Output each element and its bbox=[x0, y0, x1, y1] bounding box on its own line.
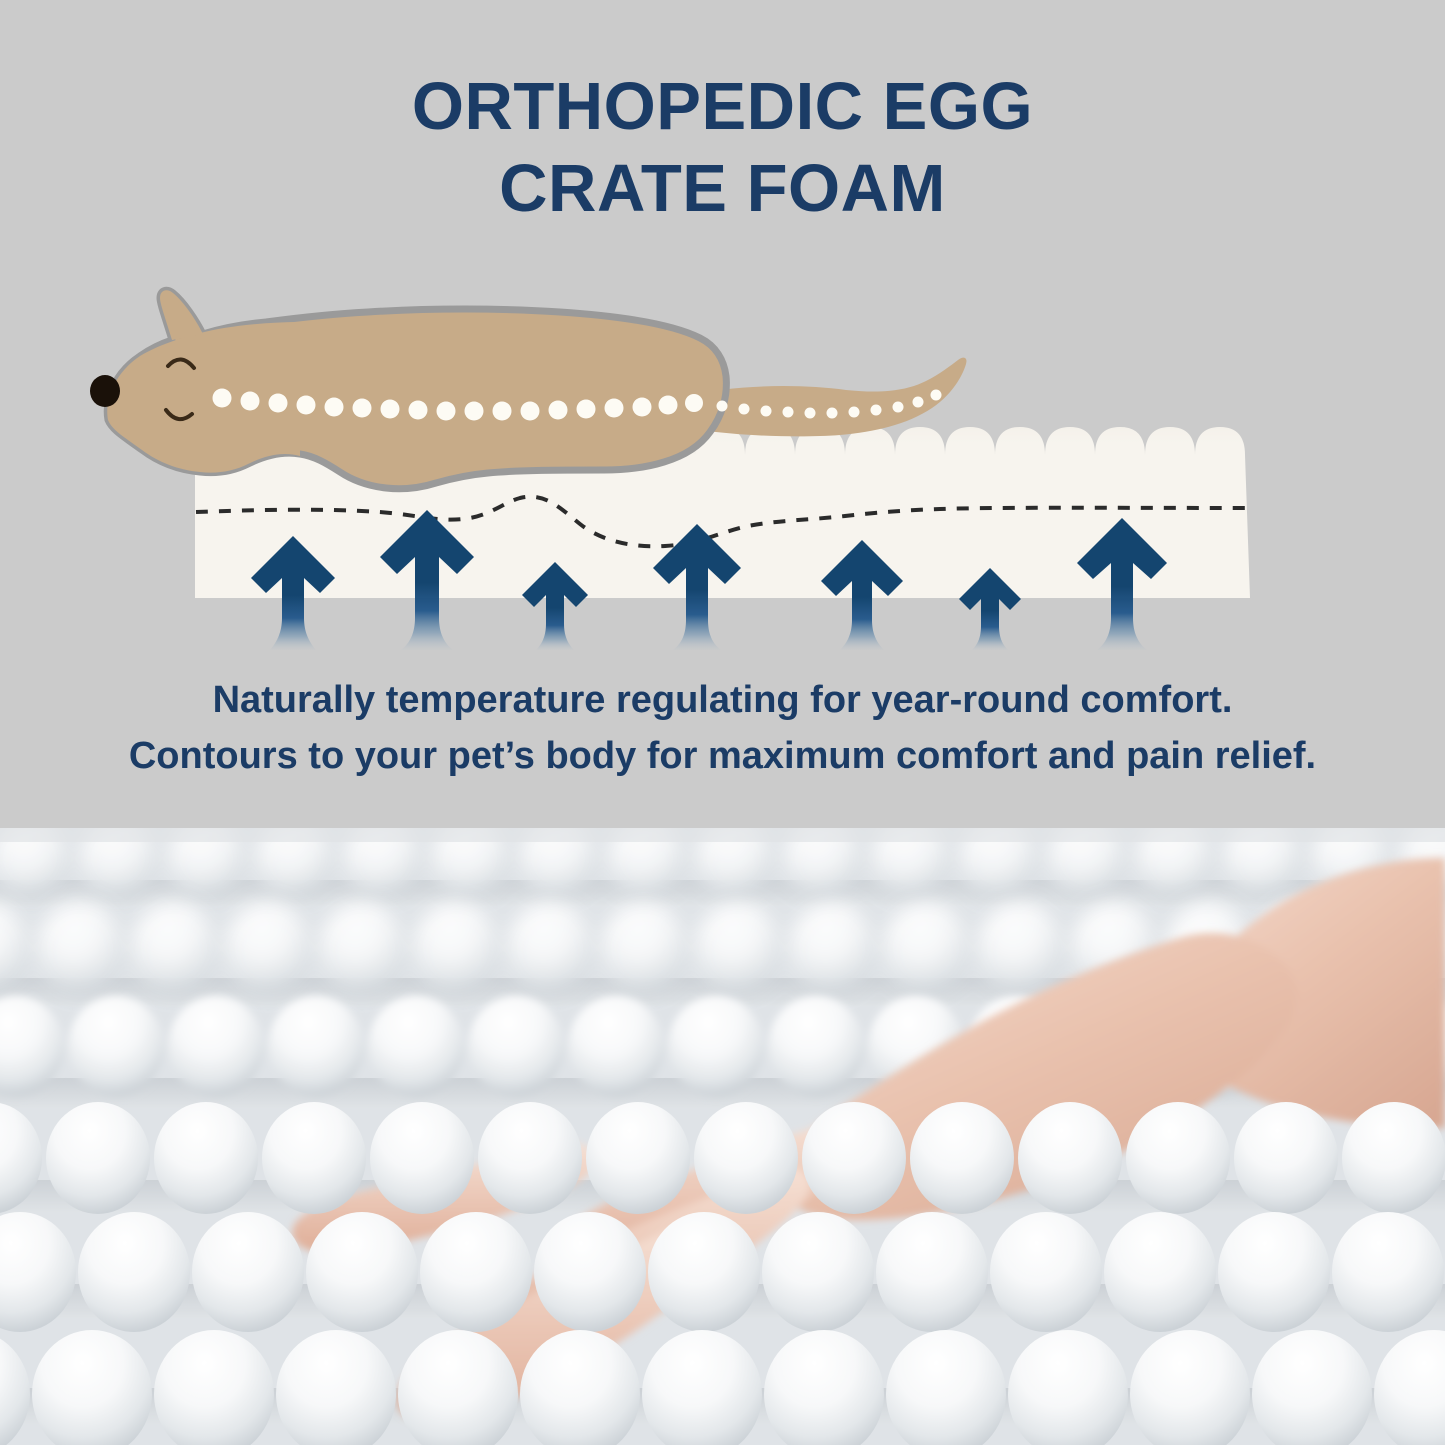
dog-nose bbox=[90, 375, 120, 407]
dog-on-foam-illustration bbox=[0, 280, 1445, 650]
feature-caption: Naturally temperature regulating for yea… bbox=[0, 672, 1445, 784]
product-infographic: ORTHOPEDIC EGG CRATE FOAM bbox=[0, 0, 1445, 1445]
headline-line-1: ORTHOPEDIC EGG bbox=[0, 66, 1445, 148]
top-info-panel: ORTHOPEDIC EGG CRATE FOAM bbox=[0, 0, 1445, 828]
headline-line-2: CRATE FOAM bbox=[0, 148, 1445, 230]
foam-texture-photo bbox=[0, 828, 1445, 1445]
caption-line-1: Naturally temperature regulating for yea… bbox=[0, 672, 1445, 728]
foam-peaks-front bbox=[0, 1102, 1445, 1445]
caption-line-2: Contours to your pet’s body for maximum … bbox=[0, 728, 1445, 784]
page-title: ORTHOPEDIC EGG CRATE FOAM bbox=[0, 66, 1445, 230]
